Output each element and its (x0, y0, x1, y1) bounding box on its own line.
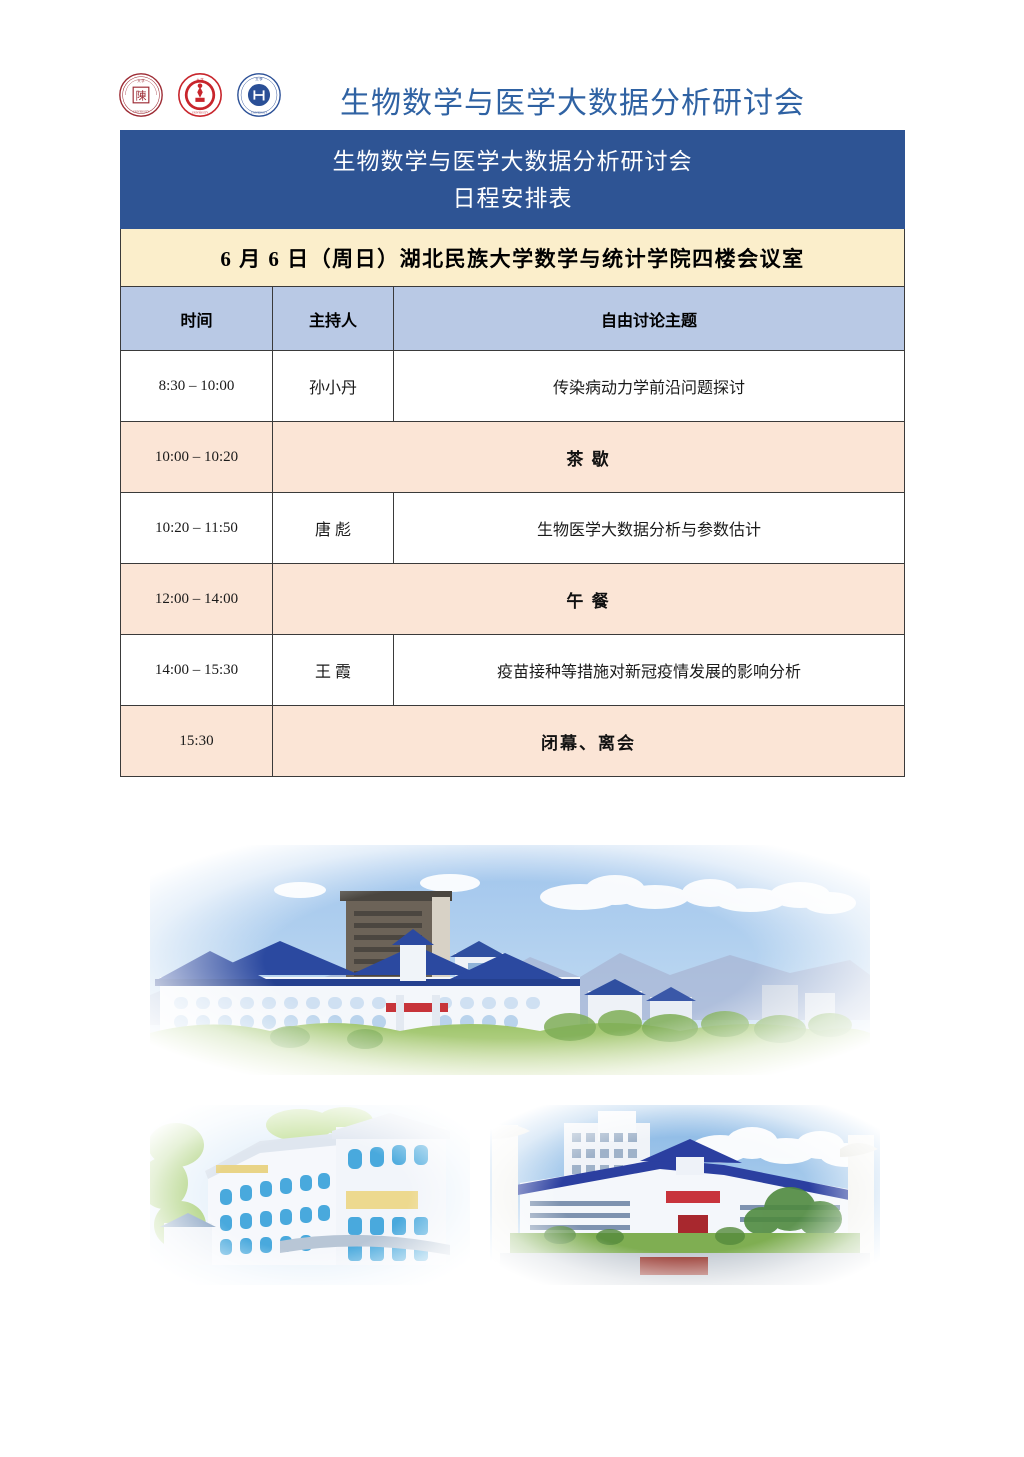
banner-cell: 生物数学与医学大数据分析研讨会 日程安排表 (121, 131, 905, 229)
svg-text:UNIVERSITY: UNIVERSITY (251, 111, 268, 114)
cell-topic: 生物医学大数据分析与参数估计 (394, 493, 905, 564)
svg-text:大 学: 大 学 (196, 77, 204, 82)
cell-break-label: 午 餐 (273, 564, 905, 635)
cell-break-label: 茶 歇 (273, 422, 905, 493)
table-row: 10:20 – 11:50 唐 彪 生物医学大数据分析与参数估计 (121, 493, 905, 564)
campus-building-left-photo (150, 1105, 470, 1285)
cell-topic: 疫苗接种等措施对新冠疫情发展的影响分析 (394, 635, 905, 706)
document-header: 陳 大 学 UNIVERSITY 大 学 UNIVERSITY 大 学 UNIV… (0, 0, 1024, 125)
cell-host: 唐 彪 (273, 493, 394, 564)
cell-time: 14:00 – 15:30 (121, 635, 273, 706)
table-row: 15:30 闭幕、离会 (121, 706, 905, 777)
cell-break-label: 闭幕、离会 (273, 706, 905, 777)
date-row: 6 月 6 日（周日）湖北民族大学数学与统计学院四楼会议室 (121, 229, 905, 287)
banner-row: 生物数学与医学大数据分析研讨会 日程安排表 (121, 131, 905, 229)
table-row: 8:30 – 10:00 孙小丹 传染病动力学前沿问题探讨 (121, 351, 905, 422)
campus-panorama-photo (150, 845, 870, 1075)
column-header-topic: 自由讨论主题 (394, 287, 905, 351)
cell-host: 王 霞 (273, 635, 394, 706)
svg-text:UNIVERSITY: UNIVERSITY (133, 110, 150, 113)
table-row: 14:00 – 15:30 王 霞 疫苗接种等措施对新冠疫情发展的影响分析 (121, 635, 905, 706)
column-header-host: 主持人 (273, 287, 394, 351)
column-header-row: 时间 主持人 自由讨论主题 (121, 287, 905, 351)
logo-group: 陳 大 学 UNIVERSITY 大 学 UNIVERSITY 大 学 UNIV… (118, 72, 282, 118)
banner-line2: 日程安排表 (121, 180, 904, 217)
schedule-table: 生物数学与医学大数据分析研讨会 日程安排表 6 月 6 日（周日）湖北民族大学数… (120, 130, 905, 777)
date-location-cell: 6 月 6 日（周日）湖北民族大学数学与统计学院四楼会议室 (121, 229, 905, 287)
page-title: 生物数学与医学大数据分析研讨会 (340, 78, 805, 122)
cell-time: 15:30 (121, 706, 273, 777)
svg-text:大 学: 大 学 (137, 78, 145, 83)
university-seal-red-icon: 大 学 UNIVERSITY (177, 72, 223, 118)
cell-time: 12:00 – 14:00 (121, 564, 273, 635)
banner-line1: 生物数学与医学大数据分析研讨会 (333, 149, 693, 174)
cell-time: 8:30 – 10:00 (121, 351, 273, 422)
column-header-time: 时间 (121, 287, 273, 351)
cell-topic: 传染病动力学前沿问题探讨 (394, 351, 905, 422)
table-row: 10:00 – 10:20 茶 歇 (121, 422, 905, 493)
svg-text:UNIVERSITY: UNIVERSITY (192, 111, 209, 114)
campus-building-right-photo (490, 1105, 880, 1285)
svg-text:大 学: 大 学 (255, 77, 263, 82)
cell-host: 孙小丹 (273, 351, 394, 422)
table-row: 12:00 – 14:00 午 餐 (121, 564, 905, 635)
svg-text:陳: 陳 (135, 90, 146, 103)
cell-time: 10:00 – 10:20 (121, 422, 273, 493)
university-seal-red-dark-icon: 陳 大 学 UNIVERSITY (118, 72, 164, 118)
university-seal-blue-icon: 大 学 UNIVERSITY (236, 72, 282, 118)
cell-time: 10:20 – 11:50 (121, 493, 273, 564)
